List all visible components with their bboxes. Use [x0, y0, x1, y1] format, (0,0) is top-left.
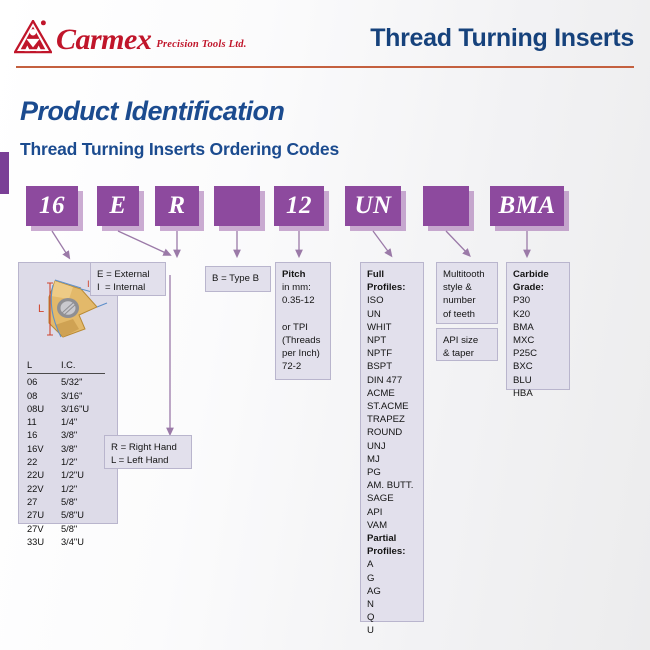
- pitch-line-2: [282, 308, 324, 321]
- carbide-grade-item-7: HBA: [513, 387, 563, 400]
- cell-ic: 3/16": [61, 390, 82, 403]
- full-profile-item-12: MJ: [367, 453, 417, 466]
- cell-l: 08: [27, 390, 61, 403]
- full-profiles-title-1: Full: [367, 268, 417, 281]
- pitch-title: Pitch: [282, 268, 324, 281]
- carbide-grade-list: P30K20BMAMXCP25CBXCBLUHBA: [513, 294, 563, 400]
- table-row: 111/4": [27, 416, 111, 429]
- partial-profile-item-5: U: [367, 624, 417, 637]
- cell-l: 22U: [27, 469, 61, 482]
- cell-ic: 3/4"U: [61, 536, 84, 549]
- internal-line: I = Internal: [97, 281, 159, 294]
- table-row: 27U5/8"U: [27, 509, 111, 522]
- partial-profile-item-0: A: [367, 558, 417, 571]
- left-edge-tab: [0, 152, 9, 194]
- pitch-lines: in mm:0.35-12 or TPI(Threadsper Inch)72-…: [282, 281, 324, 373]
- full-profile-item-14: AM. BUTT.: [367, 479, 417, 492]
- full-profile-item-15: SAGE: [367, 492, 417, 505]
- table-row: 221/2": [27, 456, 111, 469]
- table-row: 16V3/8": [27, 443, 111, 456]
- table-row: 22U1/2"U: [27, 469, 111, 482]
- external-internal-box: E = External I = Internal: [90, 262, 166, 296]
- api-line-1: & taper: [443, 347, 491, 360]
- type-box: B = Type B: [205, 266, 271, 292]
- carmex-triangle-logo-icon: [14, 20, 52, 54]
- page-background: Carmex Precision Tools Ltd. Thread Turni…: [0, 0, 650, 650]
- cell-l: 11: [27, 416, 61, 429]
- multitooth-box: Multitoothstyle &numberof teeth: [436, 262, 498, 324]
- cell-ic: 3/8": [61, 443, 77, 456]
- cell-l: 22V: [27, 483, 61, 496]
- cell-ic: 5/32": [61, 376, 82, 389]
- full-profile-item-6: DIN 477: [367, 374, 417, 387]
- pitch-line-3: or TPI: [282, 321, 324, 334]
- full-profile-item-4: NPTF: [367, 347, 417, 360]
- pitch-line-6: 72-2: [282, 360, 324, 373]
- multitooth-line-1: style &: [443, 281, 491, 294]
- cell-l: 22: [27, 456, 61, 469]
- code-box-hand-type[interactable]: E: [97, 186, 139, 226]
- full-profile-item-13: PG: [367, 466, 417, 479]
- cell-ic: 3/16"U: [61, 403, 89, 416]
- cell-l: 16: [27, 429, 61, 442]
- header-divider: [16, 66, 634, 68]
- full-profile-item-3: NPT: [367, 334, 417, 347]
- partial-profiles-title-2: Profiles:: [367, 545, 417, 558]
- code-box-direction[interactable]: R: [155, 186, 199, 226]
- api-size-box: API size& taper: [436, 328, 498, 361]
- cell-l: 06: [27, 376, 61, 389]
- carbide-grade-item-6: BLU: [513, 374, 563, 387]
- insert-size-table: L I.C. 065/32"083/16"08U3/16"U111/4"163/…: [27, 359, 111, 549]
- code-box-pitch[interactable]: 12: [274, 186, 324, 226]
- pitch-line-5: per Inch): [282, 347, 324, 360]
- page-title: Product Identification: [20, 96, 284, 127]
- code-box-grade[interactable]: BMA: [490, 186, 564, 226]
- full-profile-item-1: UN: [367, 308, 417, 321]
- page-header: Carmex Precision Tools Ltd. Thread Turni…: [0, 0, 650, 72]
- table-row: 27V5/8": [27, 523, 111, 536]
- multitooth-line-0: Multitooth: [443, 268, 491, 281]
- header-title: Thread Turning Inserts: [370, 24, 634, 53]
- full-profile-item-5: BSPT: [367, 360, 417, 373]
- carbide-title-2: Grade:: [513, 281, 563, 294]
- insert-diagram-box: L I.C. L I.C. 065/32"083/16"08U3/16"U111…: [18, 262, 118, 524]
- partial-profile-item-1: G: [367, 572, 417, 585]
- full-profiles-title-2: Profiles:: [367, 281, 417, 294]
- table-row: 163/8": [27, 429, 111, 442]
- pitch-box: Pitch in mm:0.35-12 or TPI(Threadsper In…: [275, 262, 331, 380]
- pitch-line-4: (Threads: [282, 334, 324, 347]
- cell-ic: 5/8": [61, 523, 77, 536]
- carbide-grade-item-5: BXC: [513, 360, 563, 373]
- pitch-line-1: 0.35-12: [282, 294, 324, 307]
- full-profiles-list: ISOUNWHITNPTNPTFBSPTDIN 477ACMEST.ACMETR…: [367, 294, 417, 532]
- multitooth-lines: Multitoothstyle &numberof teeth: [443, 268, 491, 321]
- code-box-size[interactable]: 16: [26, 186, 78, 226]
- cell-l: 33U: [27, 536, 61, 549]
- cell-l: 27: [27, 496, 61, 509]
- partial-profile-item-3: N: [367, 598, 417, 611]
- cell-ic: 1/2": [61, 456, 77, 469]
- dimension-label-l: L: [38, 303, 44, 315]
- carbide-grade-item-2: BMA: [513, 321, 563, 334]
- pitch-line-0: in mm:: [282, 281, 324, 294]
- table-body: 065/32"083/16"08U3/16"U111/4"163/8"16V3/…: [27, 376, 111, 549]
- carbide-grade-item-0: P30: [513, 294, 563, 307]
- right-hand-line: R = Right Hand: [111, 441, 185, 454]
- cell-l: 08U: [27, 403, 61, 416]
- left-hand-line: L = Left Hand: [111, 454, 185, 467]
- partial-profiles-title-1: Partial: [367, 532, 417, 545]
- api-lines: API size& taper: [443, 334, 491, 360]
- full-profile-item-7: ACME: [367, 387, 417, 400]
- carbide-grade-item-4: P25C: [513, 347, 563, 360]
- cell-ic: 5/8"U: [61, 509, 84, 522]
- code-box-multitooth[interactable]: [423, 186, 469, 226]
- full-profile-item-2: WHIT: [367, 321, 417, 334]
- table-header-ic: I.C.: [61, 359, 75, 372]
- table-row: 33U3/4"U: [27, 536, 111, 549]
- partial-profiles-list: AGAGNQU: [367, 558, 417, 637]
- code-box-type[interactable]: [214, 186, 260, 226]
- code-box-profile[interactable]: UN: [345, 186, 401, 226]
- cell-ic: 1/4": [61, 416, 77, 429]
- full-profile-item-16: API: [367, 506, 417, 519]
- multitooth-line-2: number: [443, 294, 491, 307]
- table-row: 083/16": [27, 390, 111, 403]
- full-profile-item-11: UNJ: [367, 440, 417, 453]
- hand-direction-box: R = Right Hand L = Left Hand: [104, 435, 192, 469]
- profiles-box: Full Profiles: ISOUNWHITNPTNPTFBSPTDIN 4…: [360, 262, 424, 622]
- cell-l: 16V: [27, 443, 61, 456]
- cell-ic: 5/8": [61, 496, 77, 509]
- cell-l: 27U: [27, 509, 61, 522]
- brand-logo: Carmex Precision Tools Ltd.: [14, 20, 247, 54]
- table-row: 22V1/2": [27, 483, 111, 496]
- carbide-grade-item-3: MXC: [513, 334, 563, 347]
- type-line: B = Type B: [212, 272, 259, 285]
- partial-profile-item-2: AG: [367, 585, 417, 598]
- api-line-0: API size: [443, 334, 491, 347]
- table-header-row: L I.C.: [27, 359, 105, 374]
- page-subtitle: Thread Turning Inserts Ordering Codes: [20, 139, 339, 160]
- table-header-l: L: [27, 359, 61, 372]
- brand-tagline: Precision Tools Ltd.: [156, 39, 246, 50]
- carbide-grade-item-1: K20: [513, 308, 563, 321]
- full-profile-item-8: ST.ACME: [367, 400, 417, 413]
- table-row: 08U3/16"U: [27, 403, 111, 416]
- external-line: E = External: [97, 268, 159, 281]
- full-profile-item-17: VAM: [367, 519, 417, 532]
- cell-l: 27V: [27, 523, 61, 536]
- brand-name: Carmex: [56, 26, 151, 54]
- table-row: 275/8": [27, 496, 111, 509]
- cell-ic: 1/2": [61, 483, 77, 496]
- cell-ic: 3/8": [61, 429, 77, 442]
- multitooth-line-3: of teeth: [443, 308, 491, 321]
- carbide-grade-box: Carbide Grade: P30K20BMAMXCP25CBXCBLUHBA: [506, 262, 570, 390]
- carbide-title-1: Carbide: [513, 268, 563, 281]
- full-profile-item-10: ROUND: [367, 426, 417, 439]
- full-profile-item-0: ISO: [367, 294, 417, 307]
- full-profile-item-9: TRAPEZ: [367, 413, 417, 426]
- partial-profile-item-4: Q: [367, 611, 417, 624]
- table-row: 065/32": [27, 376, 111, 389]
- cell-ic: 1/2"U: [61, 469, 84, 482]
